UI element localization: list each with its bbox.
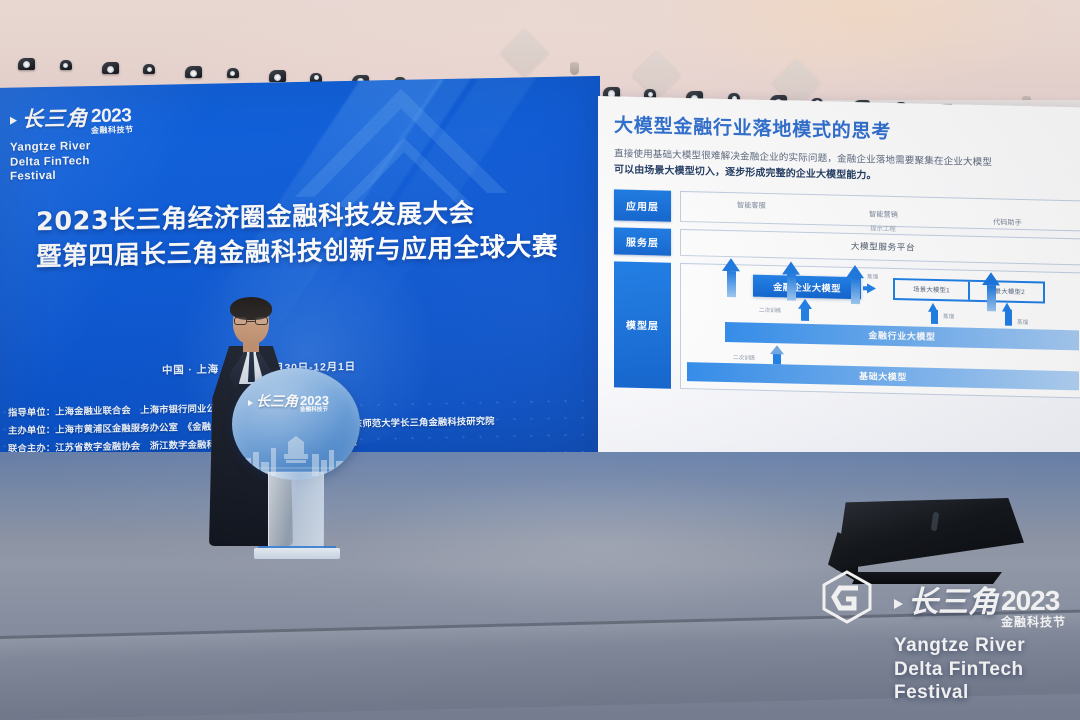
up-arrow-icon <box>928 302 938 311</box>
podium-base <box>254 548 340 559</box>
presentation-slide: 大模型金融行业落地模式的思考 直接使用基础大模型很难解决金融企业的实际问题，金融… <box>614 110 1080 471</box>
up-arrow-icon <box>846 265 864 304</box>
projection-screen: 大模型金融行业落地模式的思考 直接使用基础大模型很难解决金融企业的实际问题，金融… <box>598 96 1080 480</box>
festival-logo-year: 2023 <box>91 107 131 126</box>
event-title: 2023长三角经济圈金融科技发展大会 暨第四届长三角金融科技创新与应用全球大赛 <box>36 195 556 276</box>
stage-light-fixture <box>185 66 202 78</box>
arrow-label-secondary-training: 二次训练 <box>733 353 755 362</box>
application-layer-tag: 应用层 <box>614 189 671 221</box>
stage-light-fixture <box>227 68 239 78</box>
up-arrow-icon <box>770 345 784 354</box>
up-arrow-icon <box>798 298 812 308</box>
watermark: 长三角 2023 金融科技节 Yangtze River Delta FinTe… <box>818 570 1076 710</box>
podium-logo: 长三角 2023 金融科技节 <box>248 395 348 414</box>
podium-logo-cn: 长三角 <box>256 395 298 409</box>
up-arrow-icon <box>722 258 740 297</box>
podium-logo-subtitle: 金融科技节 <box>300 408 328 414</box>
up-arrow-icon <box>982 272 1000 311</box>
conference-stage-photo: 长三角 2023 金融科技节 Yangtze River Delta FinTe… <box>0 0 1080 720</box>
model-layer-panel: 金融企业大模型 蒸馏 场景大模型1 场景大模型2 二次训练 <box>680 263 1080 399</box>
stage-light-lens <box>314 75 319 80</box>
stage-light-fixture <box>18 58 35 70</box>
stage-light-lens <box>274 74 281 81</box>
slide-body: 直接使用基础大模型很难解决金融企业的实际问题，金融企业落地需要聚集在企业大模型 … <box>614 146 1080 189</box>
stage-light-lens <box>23 61 30 68</box>
up-arrow-icon <box>1002 302 1012 311</box>
festival-logo-cn: 长三角 <box>22 108 88 130</box>
watermark-en-line3: Festival <box>894 681 1078 705</box>
stage-light-lens <box>63 63 68 68</box>
stage-light-lens <box>107 66 114 73</box>
floor-light-reflection <box>340 470 860 620</box>
slide-title: 大模型金融行业落地模式的思考 <box>614 110 1080 148</box>
service-platform-label: 大模型服务平台 <box>851 240 915 254</box>
podium-logo-year: 2023 <box>300 395 329 407</box>
podium: 长三角 2023 金融科技节 <box>232 368 360 560</box>
chevron-right-icon <box>248 400 253 406</box>
stage-light-fixture <box>143 64 155 74</box>
scene-model-box: 场景大模型1 <box>895 280 968 300</box>
scene-model-group: 场景大模型1 场景大模型2 <box>893 278 1045 304</box>
festival-logo-subtitle-cn: 金融科技节 <box>91 126 134 135</box>
service-layer-tag: 服务层 <box>614 227 671 255</box>
monitor-body <box>828 498 1024 570</box>
right-arrow-icon <box>867 283 876 293</box>
podium-column <box>268 472 324 550</box>
up-arrow-icon <box>782 261 800 300</box>
service-layer-row: 服务层 提示工程 大模型服务平台 <box>614 227 1080 265</box>
watermark-subtitle-cn: 金融科技节 <box>1001 616 1066 628</box>
arrow-stem <box>1005 309 1012 325</box>
model-layer-tag: 模型层 <box>614 261 671 388</box>
stage-light-fixture <box>60 60 72 70</box>
base-model-box: 基础大模型 <box>687 362 1079 390</box>
stage-light-lens <box>190 70 197 77</box>
skyline-icon <box>240 434 352 476</box>
application-item: 智能客服 <box>737 200 766 211</box>
podium-emblem: 长三角 2023 金融科技节 <box>232 368 360 480</box>
watermark-text: 长三角 2023 金融科技节 Yangtze River Delta FinTe… <box>894 588 1078 705</box>
hexagon-g-logo-icon <box>820 570 874 624</box>
speaker-glasses <box>234 317 268 325</box>
watermark-en-line2: Delta FinTech <box>894 658 1078 682</box>
application-item: 智能营销 <box>869 209 898 220</box>
arrow-label-distill: 蒸馏 <box>943 312 954 320</box>
stage-light-lens <box>147 67 152 72</box>
arrow-label-secondary-training: 二次训练 <box>759 306 781 315</box>
festival-logo: 长三角 2023 金融科技节 Yangtze River Delta FinTe… <box>10 107 160 185</box>
stage-light-lens <box>230 71 235 76</box>
architecture-diagram: 应用层 智能客服 智能营销 代码助手 服务层 提示工程 大模型服务平台 <box>614 189 1080 398</box>
arrow-label-distill: 蒸馏 <box>867 272 878 280</box>
enterprise-model-box: 金融企业大模型 <box>753 274 861 299</box>
watermark-logo-cn: 长三角 <box>908 588 998 618</box>
chevron-right-icon <box>894 599 903 609</box>
festival-logo-en-line3: Festival <box>10 167 160 185</box>
stage-light-fixture <box>102 62 119 74</box>
arrow-label-distill: 蒸馏 <box>1017 318 1028 326</box>
watermark-en-line1: Yangtze River <box>894 634 1078 658</box>
service-layer-panel: 提示工程 大模型服务平台 <box>680 229 1080 266</box>
watermark-year: 2023 <box>1001 588 1059 614</box>
scene-model-box: 场景大模型2 <box>968 281 1043 301</box>
stage-light-fixture <box>269 70 286 82</box>
chevron-right-icon <box>10 117 17 125</box>
